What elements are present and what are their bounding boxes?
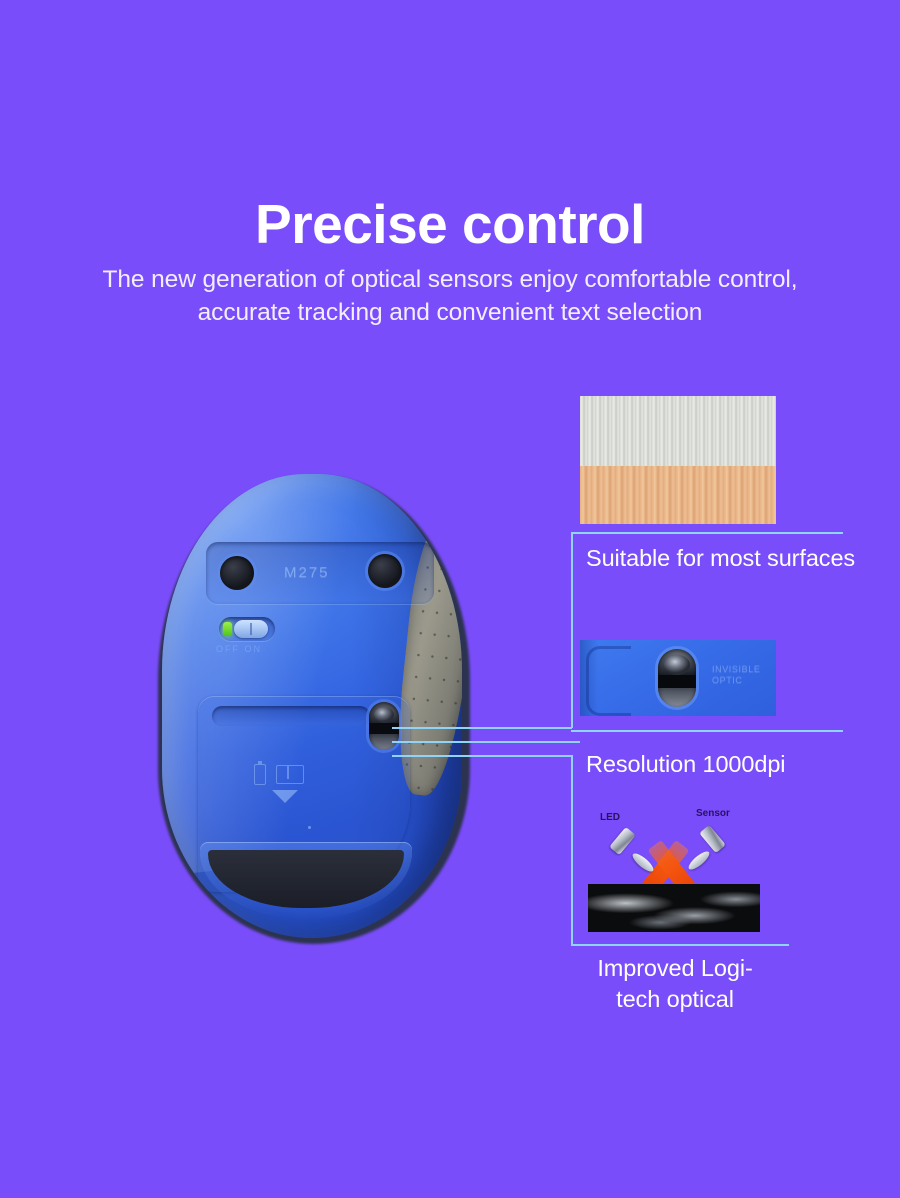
open-direction-arrow-icon [272, 790, 298, 803]
sensor-lens-closeup [664, 655, 690, 675]
model-number-label: M275 [284, 564, 330, 581]
sensor-dark-band-closeup [658, 675, 696, 688]
bracket-resolution-top [571, 730, 843, 732]
thumbnail-optical-diagram: LED Sensor [580, 806, 760, 932]
page-title: Precise control [0, 192, 900, 256]
caption-surfaces: Suitable for most surfaces [586, 543, 855, 574]
subtitle-line-2: accurate tracking and convenient text se… [50, 296, 850, 329]
bracket-optical-vertical [571, 755, 573, 945]
leader-line-to-resolution [392, 741, 580, 743]
glide-foot-left-icon [220, 556, 254, 590]
microscopic-surface-texture [588, 884, 760, 932]
battery-pack-icon [276, 765, 304, 784]
diagram-label-led: LED [600, 812, 620, 823]
emboss-line-1: INVISIBLE [712, 664, 760, 674]
sensor-receiver-icon [699, 825, 726, 853]
product-infographic: Precise control The new generation of op… [0, 0, 900, 1198]
brushed-metal-texture [580, 396, 776, 466]
power-led-indicator [223, 622, 232, 636]
shell-pinhole [308, 826, 311, 829]
led-emitter-icon [609, 827, 636, 855]
mouse-shell: M275 OFF ON [162, 474, 462, 938]
caption-optical: Improved Logi- tech optical [560, 953, 790, 1015]
emboss-line-2: OPTIC [712, 675, 743, 685]
page-subtitle: The new generation of optical sensors en… [50, 263, 850, 329]
optical-sensor-window [369, 702, 399, 750]
thumbnail-surfaces [580, 396, 776, 524]
aa-battery-icon [254, 764, 266, 785]
leader-line-to-surfaces [392, 727, 572, 729]
sensor-lens [374, 707, 394, 723]
mouse-upper-panel: M275 [206, 542, 434, 604]
leader-line-to-optical [392, 755, 572, 757]
sensor-lens-icon [686, 849, 712, 873]
bracket-surfaces-top [571, 532, 843, 534]
shell-recess-outline [586, 646, 631, 716]
sensor-window-closeup [658, 649, 696, 707]
glide-foot-right-icon [368, 554, 402, 588]
mouse-product-photo: M275 OFF ON [150, 470, 480, 950]
bracket-optical-bottom [571, 944, 789, 946]
lower-glide-pad [208, 850, 404, 908]
power-switch-knob[interactable] [234, 620, 268, 638]
diagram-label-sensor: Sensor [696, 808, 730, 819]
battery-door-latch-slot [212, 706, 370, 726]
thumbnail-sensor-macro: INVISIBLEOPTIC [580, 640, 776, 716]
embossed-text: INVISIBLEOPTIC [712, 664, 760, 686]
power-switch-label: OFF ON [216, 644, 262, 654]
caption-resolution: Resolution 1000dpi [586, 749, 785, 780]
wood-grain-texture [580, 466, 776, 524]
power-switch[interactable] [219, 617, 275, 641]
subtitle-line-1: The new generation of optical sensors en… [103, 266, 798, 293]
battery-icons [254, 764, 324, 804]
bracket-surfaces-vertical [571, 532, 573, 728]
